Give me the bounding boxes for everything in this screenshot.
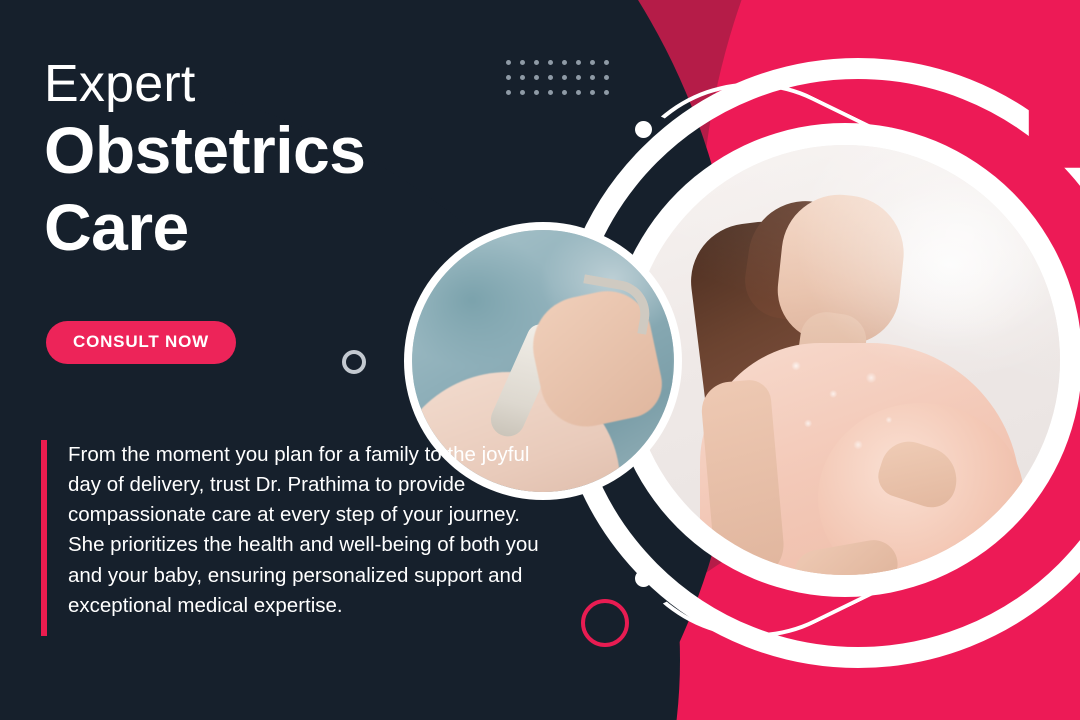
accent-bar xyxy=(41,440,47,636)
arc-endpoint-dot-top xyxy=(635,121,652,138)
main-photo-circle xyxy=(630,145,1060,575)
grid-dot xyxy=(604,60,609,65)
grid-dot xyxy=(604,90,609,95)
description-text: From the moment you plan for a family to… xyxy=(68,440,548,636)
photo-highlight-overlay xyxy=(630,145,1060,575)
grid-dot xyxy=(604,75,609,80)
headline-line-1: Obstetrics xyxy=(44,112,365,189)
headline-eyebrow: Expert xyxy=(44,58,196,110)
description-block: From the moment you plan for a family to… xyxy=(41,440,548,636)
content-column: Expert Obstetrics Care CONSULT NOW From … xyxy=(0,0,600,720)
headline-line-2: Care xyxy=(44,189,365,266)
page-title: Obstetrics Care xyxy=(44,112,365,265)
consult-now-button[interactable]: CONSULT NOW xyxy=(46,321,236,364)
obstetrics-care-banner: Expert Obstetrics Care CONSULT NOW From … xyxy=(0,0,1080,720)
